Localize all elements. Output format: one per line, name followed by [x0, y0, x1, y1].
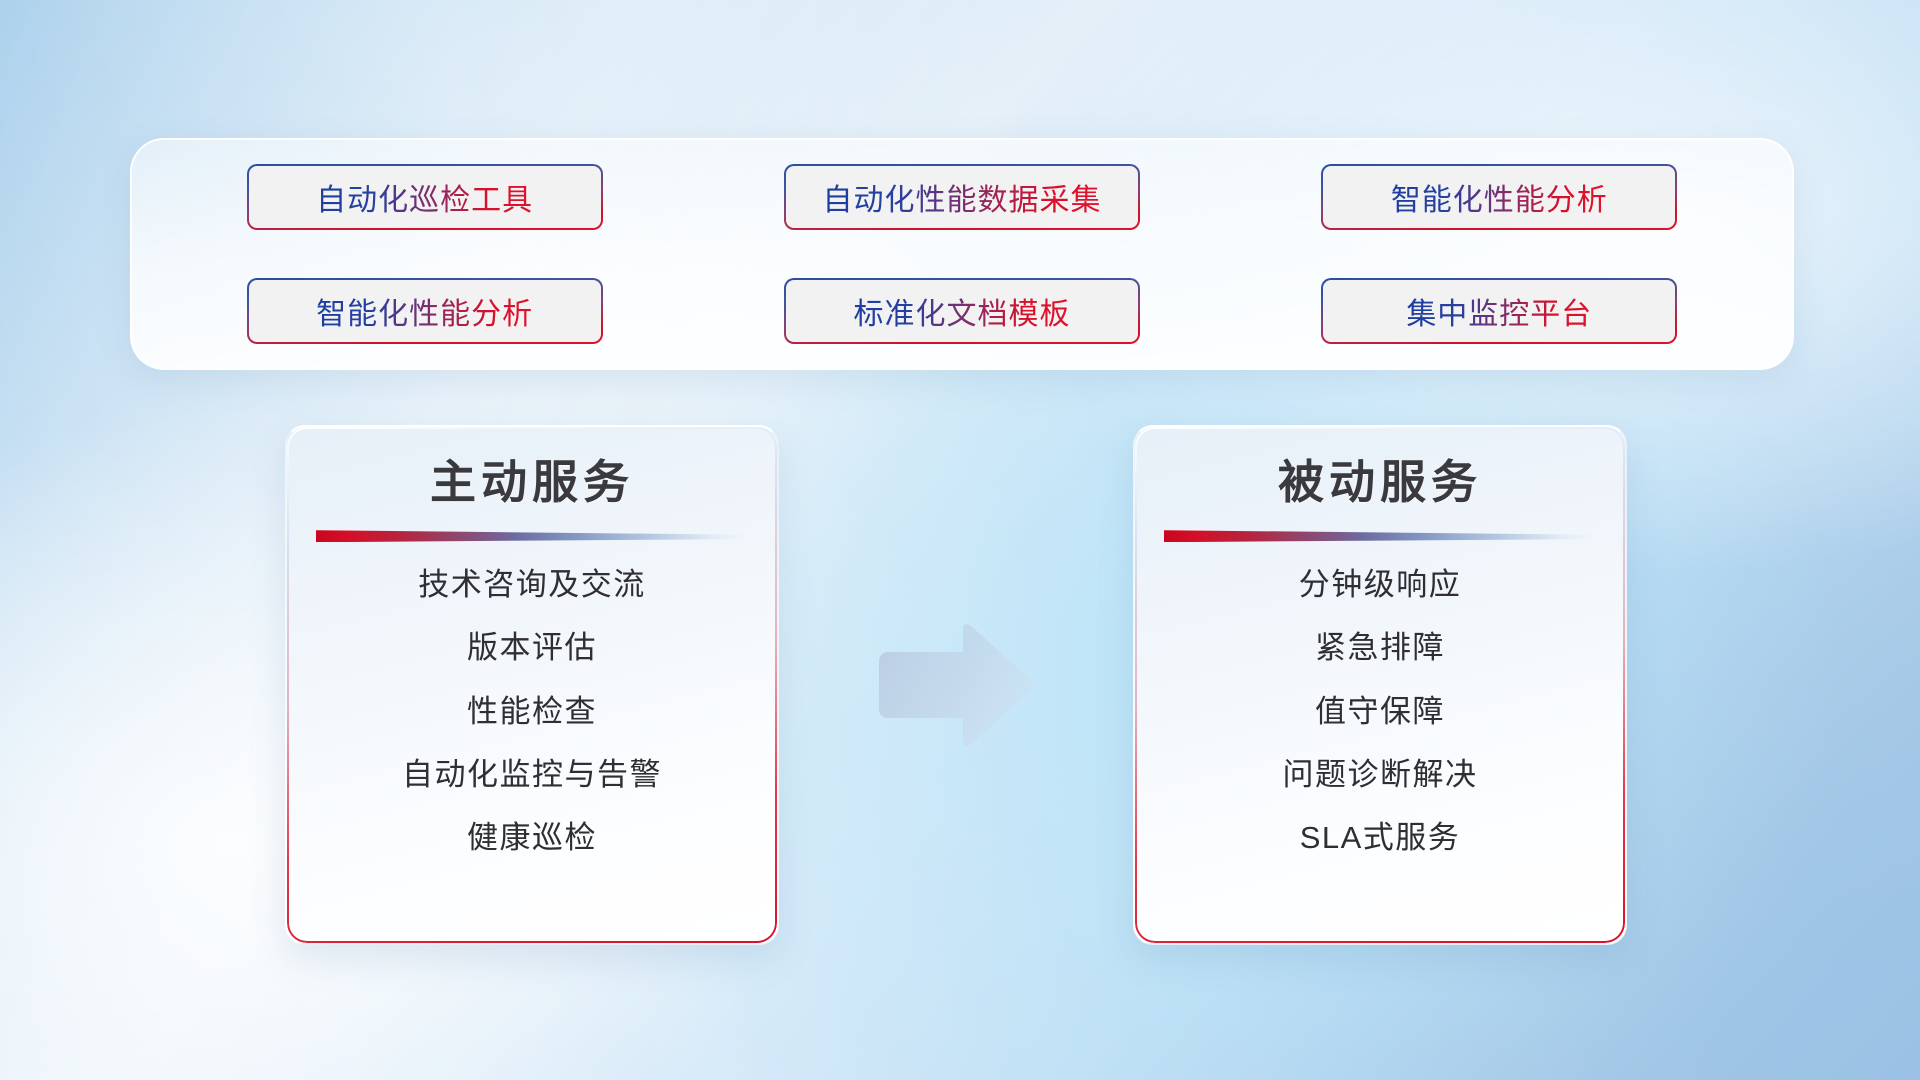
list-item: 自动化监控与告警: [402, 756, 662, 793]
passive-card-divider: [1164, 530, 1596, 542]
capability-pill-4-label: 智能化性能分析: [316, 289, 533, 333]
list-item: 值守保障: [1315, 693, 1445, 730]
capability-pill-2[interactable]: 自动化性能数据采集: [784, 164, 1140, 230]
capability-pill-6[interactable]: 集中监控平台: [1321, 278, 1677, 344]
list-item: 问题诊断解决: [1283, 756, 1478, 793]
passive-service-card[interactable]: 被动服务 分钟级响应 紧急排障 值守保障 问题诊断解决 SLA式服务: [1133, 425, 1627, 945]
capability-pill-6-inner: 集中监控平台: [1323, 280, 1675, 342]
flow-arrow-right-icon: [875, 620, 1035, 750]
active-card-list: 技术咨询及交流 版本评估 性能检查 自动化监控与告警 健康巡检: [287, 566, 777, 856]
capability-pill-3-inner: 智能化性能分析: [1323, 166, 1675, 228]
capability-pill-2-label: 自动化性能数据采集: [822, 175, 1101, 219]
list-item: 紧急排障: [1315, 629, 1445, 666]
capability-pill-1-inner: 自动化巡检工具: [249, 166, 601, 228]
capability-pill-2-inner: 自动化性能数据采集: [786, 166, 1138, 228]
list-item: 分钟级响应: [1299, 566, 1462, 603]
capability-pill-5[interactable]: 标准化文档模板: [784, 278, 1140, 344]
capabilities-panel: 自动化巡检工具 自动化性能数据采集 智能化性能分析 智能化性能分析 标准化文档模…: [130, 138, 1794, 370]
passive-card-title: 被动服务: [1278, 455, 1482, 510]
capability-pill-grid: 自动化巡检工具 自动化性能数据采集 智能化性能分析 智能化性能分析 标准化文档模…: [132, 140, 1792, 368]
list-item: 版本评估: [467, 629, 597, 666]
passive-card-body: 被动服务 分钟级响应 紧急排障 值守保障 问题诊断解决 SLA式服务: [1135, 427, 1625, 943]
capability-pill-1[interactable]: 自动化巡检工具: [247, 164, 603, 230]
capability-pill-3-label: 智能化性能分析: [1391, 175, 1608, 219]
capability-pill-1-label: 自动化巡检工具: [316, 175, 533, 219]
capability-pill-6-label: 集中监控平台: [1406, 289, 1592, 333]
capability-pill-5-label: 标准化文档模板: [853, 289, 1070, 333]
list-item: 健康巡检: [467, 819, 597, 856]
list-item: SLA式服务: [1300, 819, 1461, 856]
capability-pill-5-inner: 标准化文档模板: [786, 280, 1138, 342]
capability-pill-3[interactable]: 智能化性能分析: [1321, 164, 1677, 230]
active-service-card[interactable]: 主动服务 技术咨询及交流 版本评估 性能检查 自动化监控与告警 健康巡检: [285, 425, 779, 945]
list-item: 技术咨询及交流: [418, 566, 646, 603]
active-card-divider: [316, 530, 748, 542]
capability-pill-4[interactable]: 智能化性能分析: [247, 278, 603, 344]
list-item: 性能检查: [467, 693, 597, 730]
active-card-body: 主动服务 技术咨询及交流 版本评估 性能检查 自动化监控与告警 健康巡检: [287, 427, 777, 943]
passive-card-list: 分钟级响应 紧急排障 值守保障 问题诊断解决 SLA式服务: [1135, 566, 1625, 856]
capability-pill-4-inner: 智能化性能分析: [249, 280, 601, 342]
active-card-title: 主动服务: [430, 455, 634, 510]
